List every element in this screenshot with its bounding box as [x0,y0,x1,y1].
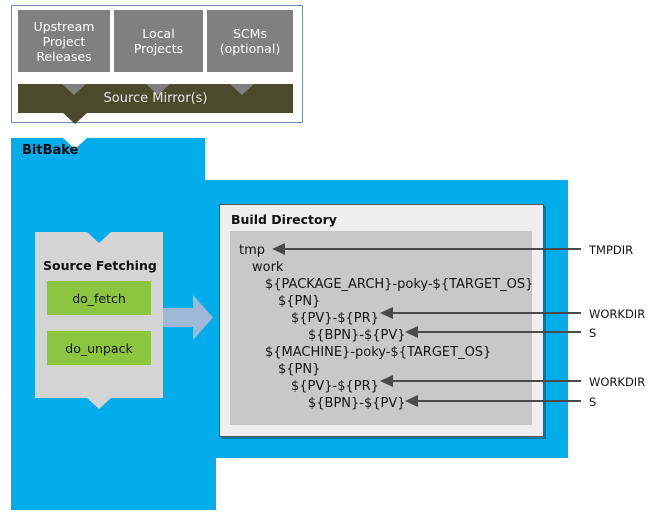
arrow-left-icon [380,375,393,387]
task-do-unpack[interactable]: do_unpack [47,331,151,365]
source-box-scms-optional: SCMs (optional) [207,10,293,72]
source-box-line: Upstream [34,19,95,34]
tree-line-pn-2: ${PN} [278,363,320,376]
arrow-down-icon [62,84,86,95]
callout-label-s-1: S [589,326,596,340]
task-label: do_unpack [65,341,132,356]
arrow-left-icon [272,243,285,255]
arrow-down-icon [230,84,254,95]
tree-line-pn-1: ${PN} [278,295,320,308]
tree-line-tmp: tmp [239,244,265,257]
flow-arrow-right-icon [163,295,213,340]
tree-line-pv-pr-2: ${PV}-${PR} [291,380,379,393]
arrow-down-icon [87,398,111,409]
callout-line-tmpdir [285,248,581,250]
source-box-line: Local [134,26,183,41]
bitbake-label: BitBake [22,143,78,158]
source-box-line: SCMs [220,26,280,41]
tree-line-bpn-pv-2: ${BPN}-${PV} [308,397,406,410]
source-box-local-projects: Local Projects [114,10,203,72]
callout-line-workdir-1 [393,312,581,314]
arrow-left-icon [380,307,393,319]
callout-line-workdir-2 [393,380,581,382]
callout-line-s-2 [418,400,581,402]
callout-label-workdir-1: WORKDIR [589,307,645,321]
arrow-down-icon [146,84,170,95]
tree-line-pv-pr-1: ${PV}-${PR} [291,312,379,325]
source-fetching-box [35,232,163,398]
arrow-left-icon [405,326,418,338]
callout-line-s-1 [418,331,581,333]
task-do-fetch[interactable]: do_fetch [47,281,151,315]
tree-line-bpn-pv-1: ${BPN}-${PV} [308,329,406,342]
source-box-line: Releases [34,49,95,64]
arrow-left-icon [405,395,418,407]
tree-line-package-arch: ${PACKAGE_ARCH}-poky-${TARGET_OS} [265,278,533,291]
task-label: do_fetch [72,291,126,306]
build-directory-title: Build Directory [231,212,337,227]
callout-label-workdir-2: WORKDIR [589,375,645,389]
callout-label-s-2: S [589,395,596,409]
source-box-upstream-project-releases: Upstream Project Releases [18,10,110,72]
tree-line-machine: ${MACHINE}-poky-${TARGET_OS} [265,346,491,359]
arrow-down-icon [87,232,111,243]
tree-line-work: work [252,261,283,274]
source-box-line: (optional) [220,41,280,56]
callout-label-tmpdir: TMPDIR [589,243,633,257]
source-fetching-title: Source Fetching [43,258,157,273]
source-box-line: Projects [134,41,183,56]
source-box-line: Project [34,34,95,49]
arrow-down-icon [63,113,87,124]
